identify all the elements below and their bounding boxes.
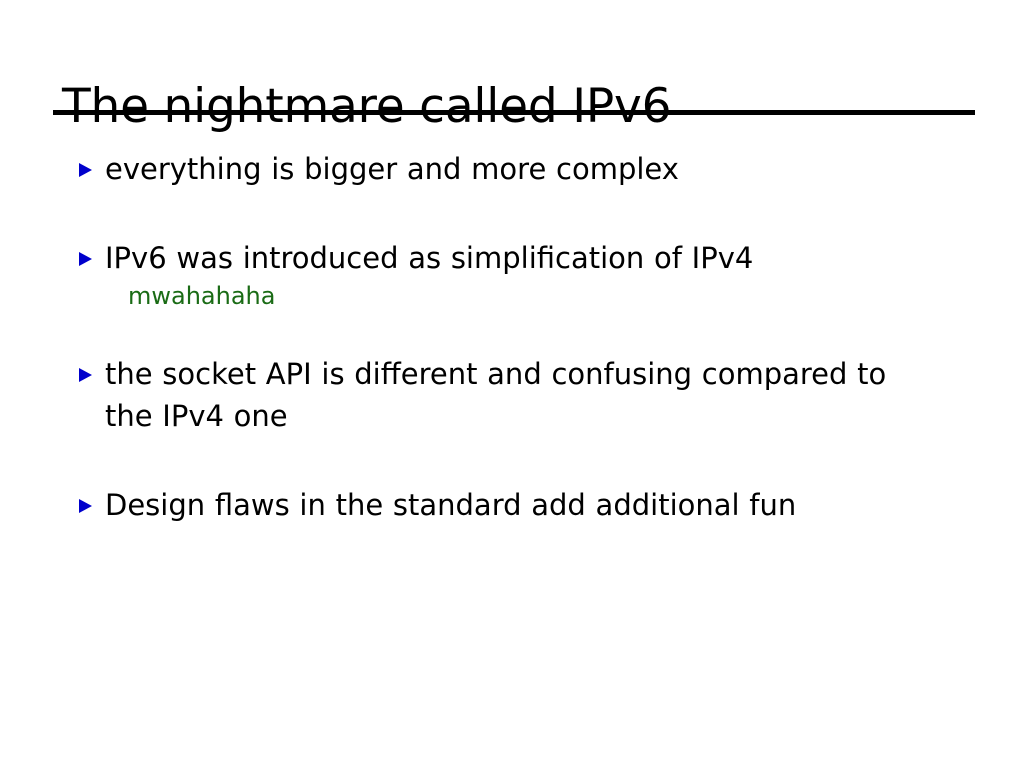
- dot-marker-icon: [106, 279, 128, 292]
- sub-bullet-text: mwahahaha: [128, 279, 918, 313]
- title-underline-rule: [53, 110, 975, 115]
- bullet-item: the socket API is different and confusin…: [0, 353, 1024, 437]
- bullet-text: the socket API is different and confusin…: [105, 353, 895, 437]
- bullet-text: Design flaws in the standard add additio…: [105, 484, 895, 526]
- slide-body: everything is bigger and more complex IP…: [0, 148, 1024, 526]
- bullet-text: IPv6 was introduced as simplification of…: [105, 237, 895, 279]
- sub-bullet-item: mwahahaha: [0, 279, 1024, 313]
- slide-title: The nightmare called IPv6: [62, 79, 982, 135]
- triangle-marker-icon: [78, 353, 105, 383]
- bullet-text: everything is bigger and more complex: [105, 148, 895, 190]
- triangle-marker-icon: [78, 484, 105, 514]
- bullet-spacer: [0, 437, 1024, 484]
- bullet-item: IPv6 was introduced as simplification of…: [0, 237, 1024, 279]
- triangle-marker-icon: [78, 237, 105, 267]
- bullet-item: everything is bigger and more complex: [0, 148, 1024, 190]
- triangle-marker-icon: [78, 148, 105, 178]
- presentation-slide: The nightmare called IPv6 everything is …: [0, 0, 1024, 768]
- bullet-spacer: [0, 190, 1024, 237]
- bullet-spacer: [0, 313, 1024, 353]
- bullet-item: Design flaws in the standard add additio…: [0, 484, 1024, 526]
